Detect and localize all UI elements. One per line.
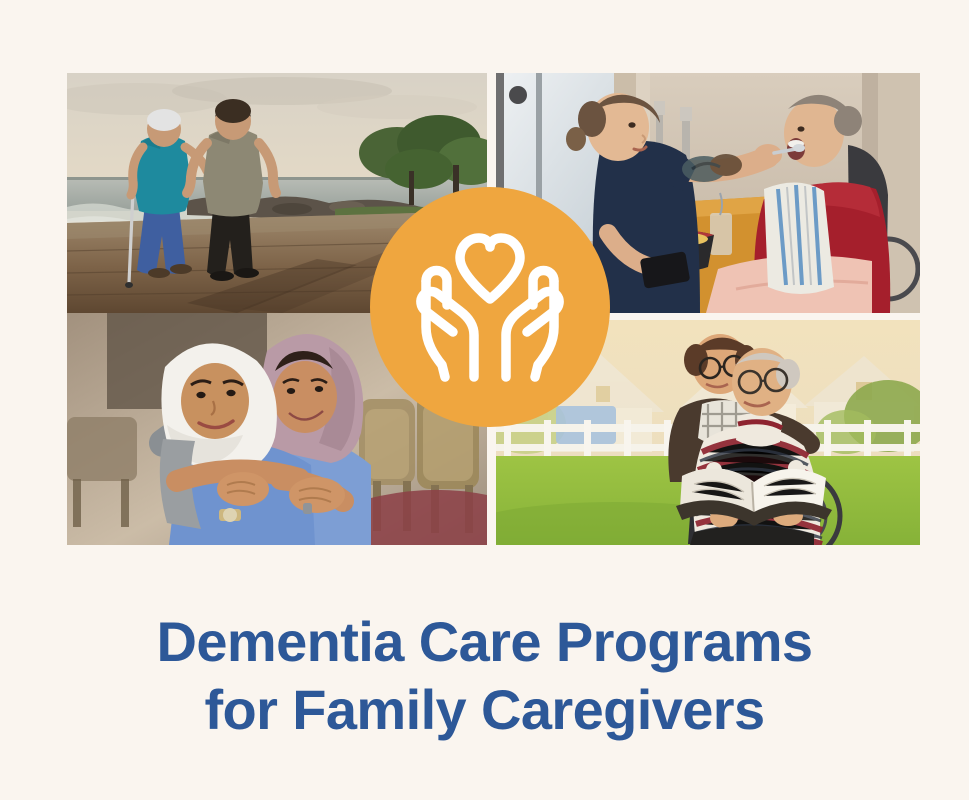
page-title: Dementia Care Programs for Family Caregi… [0, 608, 969, 744]
page-title-line-2: for Family Caregivers [0, 676, 969, 744]
hands-holding-heart-icon [404, 231, 576, 383]
poster-root: Dementia Care Programs for Family Caregi… [0, 0, 969, 800]
brand-badge [370, 187, 610, 427]
page-title-line-1: Dementia Care Programs [0, 608, 969, 676]
